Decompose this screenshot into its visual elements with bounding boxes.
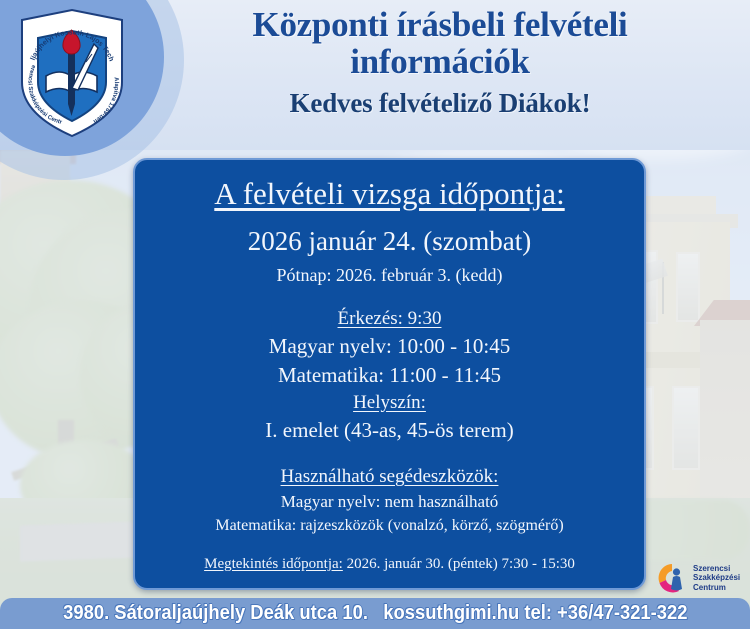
tools-heading: Használható segédeszközök:: [149, 464, 630, 490]
szc-swirl-people-circle-icon: [655, 561, 689, 595]
exam-info-panel: A felvételi vizsga időpontja: 2026 januá…: [133, 158, 646, 590]
panel-heading: A felvételi vizsga időpontja:: [149, 174, 630, 214]
spacer: [149, 287, 630, 306]
poster-root: Sátoraljaújhelyi Kossuth Lajos Technikum…: [0, 0, 750, 629]
header-titles: Központi írásbeli felvételi információk …: [150, 6, 730, 119]
spacer: [149, 445, 630, 464]
footer-bar: 3980. Sátoraljaújhely Deák utca 10. koss…: [0, 598, 750, 629]
tools-hungarian: Magyar nyelv: nem használható: [149, 490, 630, 514]
location-value: I. emelet (43-as, 45-ös terem): [149, 416, 630, 445]
exam-date: 2026 január 24. (szombat): [149, 224, 630, 258]
location-heading: Helyszín:: [149, 390, 630, 416]
header-band: Sátoraljaújhelyi Kossuth Lajos Technikum…: [0, 0, 750, 150]
review-value: 2026. január 30. (péntek) 7:30 - 15:30: [343, 556, 575, 572]
footer-contact-text: 3980. Sátoraljaújhely Deák utca 10. koss…: [63, 602, 687, 625]
math-exam-time: Matematika: 11:00 - 11:45: [149, 361, 630, 390]
szc-logo: Szerencsi Szakképzési Centrum: [655, 556, 747, 600]
page-title-line1: Központi írásbeli felvételi: [150, 6, 730, 43]
szc-logo-text: Szerencsi Szakképzési Centrum: [693, 564, 740, 593]
makeup-date: Pótnap: 2026. február 3. (kedd): [149, 263, 630, 287]
spacer: [149, 537, 630, 553]
school-crest-icon: Sátoraljaújhelyi Kossuth Lajos Technikum…: [16, 6, 128, 140]
tools-math: Matematika: rajzeszközök (vonalzó, körző…: [149, 514, 630, 537]
review-label: Megtekintés időpontja:: [204, 556, 343, 572]
arrival-time: Érkezés: 9:30: [149, 306, 630, 332]
page-greeting: Kedves felvételiző Diákok!: [150, 88, 730, 119]
review-line: Megtekintés időpontja: 2026. január 30. …: [149, 553, 630, 575]
page-title-line2: információk: [150, 43, 730, 80]
hungarian-exam-time: Magyar nyelv: 10:00 - 10:45: [149, 332, 630, 361]
